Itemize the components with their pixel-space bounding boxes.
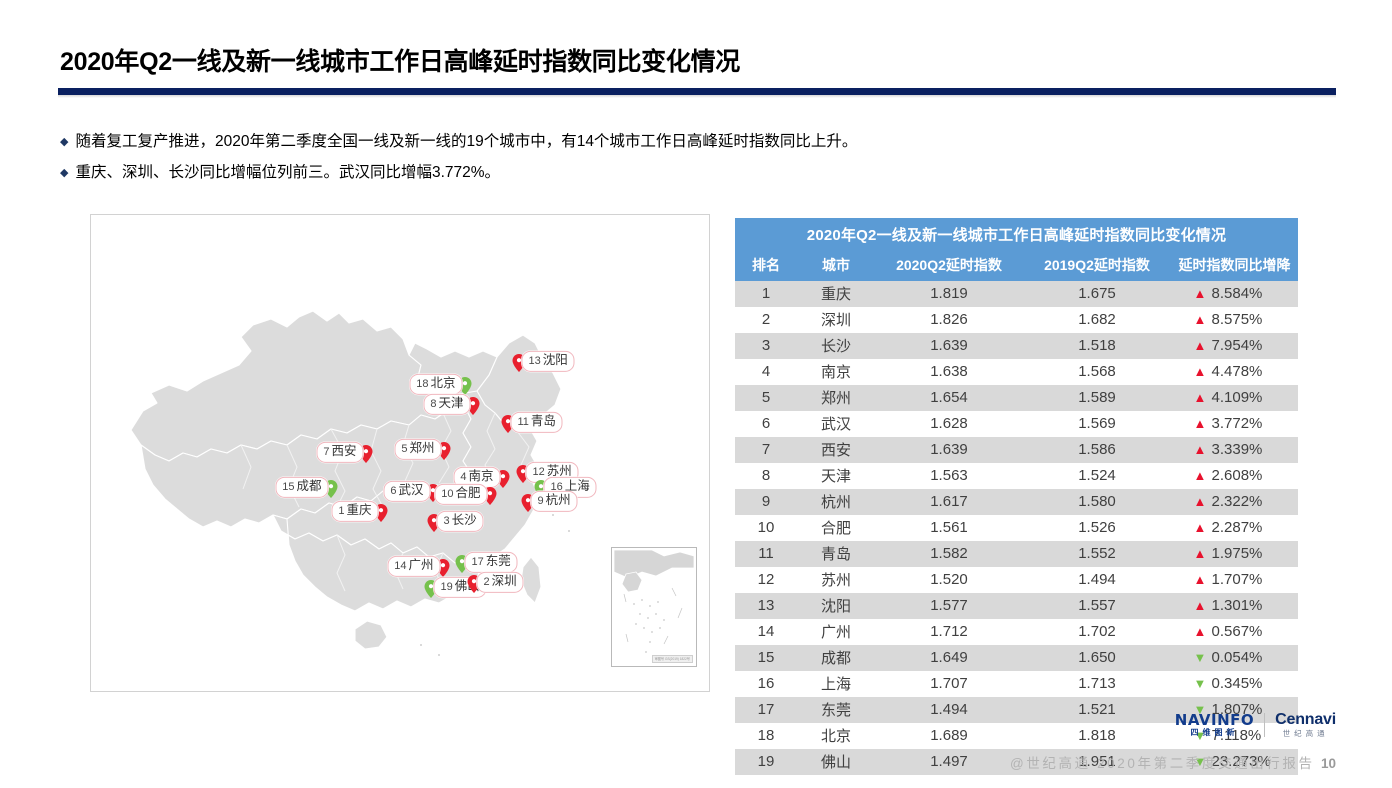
footer-note-text: @世纪高通 2020年第二季度交通出行报告 xyxy=(1010,756,1315,771)
column-header-2019: 2019Q2延时指数 xyxy=(1023,252,1171,281)
bullet-text: 重庆、深圳、长沙同比增幅位列前三。武汉同比增幅3.772%。 xyxy=(75,162,500,184)
map-marker-rank: 11 xyxy=(518,416,529,428)
list-item: ◆ 随着复工复产推进，2020年第二季度全国一线及新一线的19个城市中，有14个… xyxy=(60,131,1240,153)
cell-2020-index: 1.712 xyxy=(875,619,1023,645)
cell-change: ▲1.707% xyxy=(1171,567,1298,593)
change-value: 1.975% xyxy=(1212,545,1276,562)
cell-rank: 18 xyxy=(735,723,797,749)
arrow-up-icon: ▲ xyxy=(1194,521,1204,534)
map-marker-label: 5郑州 xyxy=(394,439,441,460)
table-row: 12苏州1.5201.494▲1.707% xyxy=(735,567,1298,593)
cell-city: 长沙 xyxy=(797,333,875,359)
cell-change: ▲3.772% xyxy=(1171,411,1298,437)
table-row: 5郑州1.6541.589▲4.109% xyxy=(735,385,1298,411)
map-marker-rank: 4 xyxy=(460,471,466,483)
map-marker-rank: 8 xyxy=(430,398,436,410)
map-marker-label: 3长沙 xyxy=(437,511,484,532)
map-marker-city: 西安 xyxy=(331,444,356,458)
map-marker-重庆[interactable]: 1重庆 xyxy=(375,504,388,522)
cell-city: 东莞 xyxy=(797,697,875,723)
cell-city: 北京 xyxy=(797,723,875,749)
map-marker-东莞[interactable]: 17东莞 xyxy=(456,555,469,573)
cell-2020-index: 1.520 xyxy=(875,567,1023,593)
table-row: 15成都1.6491.650▼0.054% xyxy=(735,645,1298,671)
map-marker-city: 长沙 xyxy=(452,513,477,527)
change-value: 4.109% xyxy=(1212,389,1276,406)
cell-city: 西安 xyxy=(797,437,875,463)
cell-change: ▲8.584% xyxy=(1171,281,1298,307)
cell-change: ▲1.301% xyxy=(1171,593,1298,619)
map-marker-label: 10合肥 xyxy=(434,484,487,505)
table-row: 1重庆1.8191.675▲8.584% xyxy=(735,281,1298,307)
cell-2020-index: 1.639 xyxy=(875,333,1023,359)
cell-rank: 8 xyxy=(735,463,797,489)
cell-2019-index: 1.521 xyxy=(1023,697,1171,723)
table-row: 9杭州1.6171.580▲2.322% xyxy=(735,489,1298,515)
arrow-up-icon: ▲ xyxy=(1194,287,1204,300)
cell-city: 重庆 xyxy=(797,281,875,307)
cell-city: 佛山 xyxy=(797,749,875,775)
cell-2020-index: 1.638 xyxy=(875,359,1023,385)
cell-2020-index: 1.639 xyxy=(875,437,1023,463)
map-marker-天津[interactable]: 8天津 xyxy=(467,397,480,415)
cell-2020-index: 1.819 xyxy=(875,281,1023,307)
inset-graphic xyxy=(612,548,696,666)
map-marker-label: 9杭州 xyxy=(531,491,578,512)
map-marker-成都[interactable]: 15成都 xyxy=(325,480,338,498)
map-marker-city: 郑州 xyxy=(409,441,434,455)
change-value: 2.287% xyxy=(1212,519,1276,536)
map-marker-city: 重庆 xyxy=(346,503,371,517)
arrow-up-icon: ▲ xyxy=(1194,365,1204,378)
cell-2019-index: 1.818 xyxy=(1023,723,1171,749)
map-marker-city: 武汉 xyxy=(398,483,423,497)
table-row: 4南京1.6381.568▲4.478% xyxy=(735,359,1298,385)
change-value: 0.054% xyxy=(1212,649,1276,666)
brand-logos: NAVINFO 四维图新 Cennavi 世纪高通 xyxy=(1175,712,1336,738)
map-marker-city: 青岛 xyxy=(531,414,556,428)
cell-city: 深圳 xyxy=(797,307,875,333)
cell-rank: 4 xyxy=(735,359,797,385)
cell-2020-index: 1.649 xyxy=(875,645,1023,671)
cell-2020-index: 1.577 xyxy=(875,593,1023,619)
map-marker-city: 南京 xyxy=(468,469,493,483)
change-value: 2.322% xyxy=(1212,493,1276,510)
map-marker-city: 深圳 xyxy=(492,574,517,588)
arrow-up-icon: ▲ xyxy=(1194,573,1204,586)
cell-rank: 17 xyxy=(735,697,797,723)
map-marker-rank: 1 xyxy=(338,505,344,517)
cell-city: 南京 xyxy=(797,359,875,385)
arrow-up-icon: ▲ xyxy=(1194,339,1204,352)
cell-rank: 12 xyxy=(735,567,797,593)
map-marker-rank: 6 xyxy=(390,485,396,497)
cennavi-logo: Cennavi 世纪高通 xyxy=(1275,712,1336,738)
cell-2020-index: 1.582 xyxy=(875,541,1023,567)
cell-2020-index: 1.689 xyxy=(875,723,1023,749)
map-marker-深圳[interactable]: 2深圳 xyxy=(468,575,481,593)
map-marker-rank: 3 xyxy=(444,515,450,527)
map-marker-rank: 12 xyxy=(533,466,545,478)
china-map-panel[interactable]: 审图号 GS(2019) 1822号 13沈阳18北京8天津11青岛7西安5郑州… xyxy=(90,214,710,692)
map-marker-rank: 13 xyxy=(529,355,541,367)
cell-2020-index: 1.826 xyxy=(875,307,1023,333)
cell-2019-index: 1.526 xyxy=(1023,515,1171,541)
arrow-down-icon: ▼ xyxy=(1194,677,1204,690)
map-marker-南京[interactable]: 4南京 xyxy=(497,470,510,488)
cell-2019-index: 1.682 xyxy=(1023,307,1171,333)
table-row: 7西安1.6391.586▲3.339% xyxy=(735,437,1298,463)
cell-2020-index: 1.707 xyxy=(875,671,1023,697)
cell-2019-index: 1.650 xyxy=(1023,645,1171,671)
cell-2019-index: 1.580 xyxy=(1023,489,1171,515)
cell-2019-index: 1.713 xyxy=(1023,671,1171,697)
map-marker-city: 广州 xyxy=(408,558,433,572)
map-marker-label: 1重庆 xyxy=(331,501,378,522)
cell-2019-index: 1.675 xyxy=(1023,281,1171,307)
change-value: 1.707% xyxy=(1212,571,1276,588)
slide-root: 2020年Q2一线及新一线城市工作日高峰延时指数同比变化情况 ◆ 随着复工复产推… xyxy=(0,0,1392,788)
navinfo-logo-en: NAVINFO xyxy=(1175,713,1254,728)
diamond-bullet-icon: ◆ xyxy=(60,131,68,153)
table-row: 6武汉1.6281.569▲3.772% xyxy=(735,411,1298,437)
arrow-up-icon: ▲ xyxy=(1194,547,1204,560)
map-marker-杭州[interactable]: 9杭州 xyxy=(522,494,535,512)
cell-change: ▲8.575% xyxy=(1171,307,1298,333)
map-marker-rank: 10 xyxy=(441,488,453,500)
change-value: 3.772% xyxy=(1212,415,1276,432)
map-marker-city: 北京 xyxy=(430,376,455,390)
column-header-change: 延时指数同比增降 xyxy=(1171,252,1298,281)
cell-2019-index: 1.702 xyxy=(1023,619,1171,645)
delay-index-table: 2020年Q2一线及新一线城市工作日高峰延时指数同比变化情况 排名 城市 202… xyxy=(735,218,1298,775)
arrow-up-icon: ▲ xyxy=(1194,599,1204,612)
map-marker-city: 成都 xyxy=(296,479,321,493)
cell-2019-index: 1.524 xyxy=(1023,463,1171,489)
cell-change: ▲2.287% xyxy=(1171,515,1298,541)
map-marker-西安[interactable]: 7西安 xyxy=(360,445,373,463)
cell-rank: 13 xyxy=(735,593,797,619)
cell-2020-index: 1.654 xyxy=(875,385,1023,411)
inset-credit: 审图号 GS(2019) 1822号 xyxy=(652,655,693,663)
cell-2020-index: 1.617 xyxy=(875,489,1023,515)
south-china-sea-inset: 审图号 GS(2019) 1822号 xyxy=(611,547,697,667)
navinfo-logo: NAVINFO 四维图新 xyxy=(1175,713,1254,737)
cell-city: 郑州 xyxy=(797,385,875,411)
navinfo-logo-cn: 四维图新 xyxy=(1190,729,1238,737)
map-marker-city: 东莞 xyxy=(486,554,511,568)
cennavi-logo-cn: 世纪高通 xyxy=(1283,730,1329,738)
map-marker-佛山[interactable]: 19佛山 xyxy=(425,580,438,598)
cell-city: 广州 xyxy=(797,619,875,645)
title-rule-shadow xyxy=(58,95,1336,98)
cell-2019-index: 1.568 xyxy=(1023,359,1171,385)
change-value: 7.954% xyxy=(1212,337,1276,354)
page-title: 2020年Q2一线及新一线城市工作日高峰延时指数同比变化情况 xyxy=(60,42,740,78)
cell-2020-index: 1.628 xyxy=(875,411,1023,437)
title-rule xyxy=(58,88,1336,95)
cell-rank: 6 xyxy=(735,411,797,437)
cell-city: 合肥 xyxy=(797,515,875,541)
bullet-list: ◆ 随着复工复产推进，2020年第二季度全国一线及新一线的19个城市中，有14个… xyxy=(60,131,1240,193)
column-header-2020: 2020Q2延时指数 xyxy=(875,252,1023,281)
arrow-up-icon: ▲ xyxy=(1194,417,1204,430)
map-marker-label: 13沈阳 xyxy=(522,351,575,372)
table-row: 13沈阳1.5771.557▲1.301% xyxy=(735,593,1298,619)
change-value: 2.608% xyxy=(1212,467,1276,484)
map-marker-label: 8天津 xyxy=(423,394,470,415)
cennavi-logo-en: Cennavi xyxy=(1275,712,1336,728)
cell-2020-index: 1.494 xyxy=(875,697,1023,723)
cell-rank: 19 xyxy=(735,749,797,775)
change-value: 0.567% xyxy=(1212,623,1276,640)
cell-city: 杭州 xyxy=(797,489,875,515)
table-row: 10合肥1.5611.526▲2.287% xyxy=(735,515,1298,541)
table-row: 2深圳1.8261.682▲8.575% xyxy=(735,307,1298,333)
change-value: 3.339% xyxy=(1212,441,1276,458)
cell-rank: 5 xyxy=(735,385,797,411)
table-row: 16上海1.7071.713▼0.345% xyxy=(735,671,1298,697)
cell-2020-index: 1.563 xyxy=(875,463,1023,489)
logo-divider xyxy=(1264,713,1265,737)
cell-2019-index: 1.494 xyxy=(1023,567,1171,593)
cell-2019-index: 1.557 xyxy=(1023,593,1171,619)
page-number: 10 xyxy=(1321,756,1336,771)
map-marker-label: 6武汉 xyxy=(383,481,430,502)
map-marker-rank: 18 xyxy=(416,378,428,390)
cell-rank: 15 xyxy=(735,645,797,671)
map-marker-label: 11青岛 xyxy=(511,412,563,433)
map-marker-label: 18北京 xyxy=(409,374,462,395)
map-marker-label: 14广州 xyxy=(387,556,440,577)
cell-rank: 9 xyxy=(735,489,797,515)
column-header-rank: 排名 xyxy=(735,252,797,281)
table-row: 11青岛1.5821.552▲1.975% xyxy=(735,541,1298,567)
cell-change: ▼0.345% xyxy=(1171,671,1298,697)
map-marker-label: 17东莞 xyxy=(465,552,518,573)
cell-2019-index: 1.586 xyxy=(1023,437,1171,463)
arrow-up-icon: ▲ xyxy=(1194,313,1204,326)
table-body: 1重庆1.8191.675▲8.584%2深圳1.8261.682▲8.575%… xyxy=(735,281,1298,775)
table-caption: 2020年Q2一线及新一线城市工作日高峰延时指数同比变化情况 xyxy=(735,218,1298,252)
cell-change: ▲3.339% xyxy=(1171,437,1298,463)
cell-change: ▲2.322% xyxy=(1171,489,1298,515)
map-marker-rank: 14 xyxy=(394,560,406,572)
cell-change: ▲1.975% xyxy=(1171,541,1298,567)
cell-city: 成都 xyxy=(797,645,875,671)
change-value: 1.301% xyxy=(1212,597,1276,614)
cell-2020-index: 1.561 xyxy=(875,515,1023,541)
map-marker-city: 沈阳 xyxy=(543,353,568,367)
cell-change: ▲0.567% xyxy=(1171,619,1298,645)
list-item: ◆ 重庆、深圳、长沙同比增幅位列前三。武汉同比增幅3.772%。 xyxy=(60,162,1240,184)
change-value: 4.478% xyxy=(1212,363,1276,380)
map-marker-rank: 15 xyxy=(282,481,294,493)
cell-city: 沈阳 xyxy=(797,593,875,619)
change-value: 8.584% xyxy=(1212,285,1276,302)
cell-rank: 14 xyxy=(735,619,797,645)
map-marker-city: 杭州 xyxy=(546,493,571,507)
map-marker-合肥[interactable]: 10合肥 xyxy=(484,487,497,505)
map-marker-郑州[interactable]: 5郑州 xyxy=(438,442,451,460)
map-marker-青岛[interactable]: 11青岛 xyxy=(502,415,515,433)
cell-city: 上海 xyxy=(797,671,875,697)
cell-change: ▲4.478% xyxy=(1171,359,1298,385)
cell-city: 武汉 xyxy=(797,411,875,437)
cell-2019-index: 1.589 xyxy=(1023,385,1171,411)
column-header-city: 城市 xyxy=(797,252,875,281)
map-marker-city: 合肥 xyxy=(455,486,480,500)
change-value: 0.345% xyxy=(1212,675,1276,692)
map-marker-广州[interactable]: 14广州 xyxy=(437,559,450,577)
cell-city: 天津 xyxy=(797,463,875,489)
cell-change: ▲2.608% xyxy=(1171,463,1298,489)
table-row: 3长沙1.6391.518▲7.954% xyxy=(735,333,1298,359)
cell-rank: 7 xyxy=(735,437,797,463)
map-marker-city: 苏州 xyxy=(547,464,572,478)
map-marker-长沙[interactable]: 3长沙 xyxy=(428,514,441,532)
cell-rank: 16 xyxy=(735,671,797,697)
table-header-row: 排名 城市 2020Q2延时指数 2019Q2延时指数 延时指数同比增降 xyxy=(735,252,1298,281)
cell-2019-index: 1.569 xyxy=(1023,411,1171,437)
bullet-text: 随着复工复产推进，2020年第二季度全国一线及新一线的19个城市中，有14个城市… xyxy=(75,131,857,153)
cell-change: ▲7.954% xyxy=(1171,333,1298,359)
cell-change: ▼0.054% xyxy=(1171,645,1298,671)
arrow-up-icon: ▲ xyxy=(1194,469,1204,482)
cell-change: ▲4.109% xyxy=(1171,385,1298,411)
arrow-up-icon: ▲ xyxy=(1194,495,1204,508)
cell-2020-index: 1.497 xyxy=(875,749,1023,775)
cell-2019-index: 1.552 xyxy=(1023,541,1171,567)
map-marker-rank: 2 xyxy=(484,576,490,588)
arrow-up-icon: ▲ xyxy=(1194,443,1204,456)
change-value: 8.575% xyxy=(1212,311,1276,328)
cell-city: 青岛 xyxy=(797,541,875,567)
map-marker-label: 15成都 xyxy=(275,477,328,498)
arrow-up-icon: ▲ xyxy=(1194,391,1204,404)
map-marker-rank: 19 xyxy=(441,581,453,593)
cell-city: 苏州 xyxy=(797,567,875,593)
cell-rank: 2 xyxy=(735,307,797,333)
map-marker-label: 7西安 xyxy=(316,442,363,463)
map-marker-rank: 9 xyxy=(538,495,544,507)
map-marker-city: 天津 xyxy=(438,396,463,410)
cell-2019-index: 1.518 xyxy=(1023,333,1171,359)
map-marker-rank: 17 xyxy=(472,556,484,568)
map-marker-label: 2深圳 xyxy=(477,572,524,593)
map-marker-苏州[interactable]: 12苏州 xyxy=(517,465,530,483)
delay-index-table-wrap: 2020年Q2一线及新一线城市工作日高峰延时指数同比变化情况 排名 城市 202… xyxy=(735,218,1298,775)
map-marker-沈阳[interactable]: 13沈阳 xyxy=(513,354,526,372)
arrow-down-icon: ▼ xyxy=(1194,651,1204,664)
cell-rank: 10 xyxy=(735,515,797,541)
cell-rank: 3 xyxy=(735,333,797,359)
footer-note: @世纪高通 2020年第二季度交通出行报告 10 xyxy=(1010,752,1336,772)
cell-rank: 1 xyxy=(735,281,797,307)
table-row: 14广州1.7121.702▲0.567% xyxy=(735,619,1298,645)
map-marker-rank: 7 xyxy=(323,446,329,458)
diamond-bullet-icon: ◆ xyxy=(60,162,68,184)
map-marker-北京[interactable]: 18北京 xyxy=(459,377,472,395)
cell-rank: 11 xyxy=(735,541,797,567)
arrow-up-icon: ▲ xyxy=(1194,625,1204,638)
table-row: 8天津1.5631.524▲2.608% xyxy=(735,463,1298,489)
map-marker-rank: 5 xyxy=(401,443,407,455)
